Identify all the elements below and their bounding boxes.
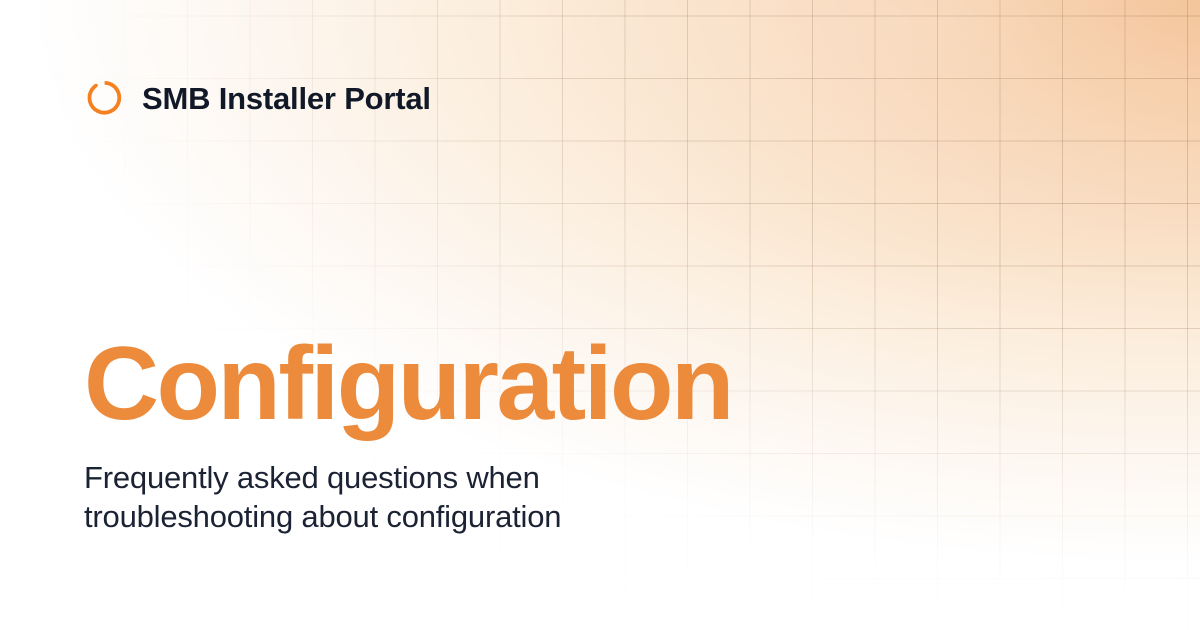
og-card: SMB Installer Portal Configuration Frequ… xyxy=(0,0,1200,630)
page-subtitle: Frequently asked questions when troubles… xyxy=(84,458,704,536)
brand-lockup: SMB Installer Portal xyxy=(84,78,431,118)
brand-name: SMB Installer Portal xyxy=(142,83,431,114)
page-title: Configuration xyxy=(84,332,864,436)
orange-ring-logo-icon xyxy=(84,78,124,118)
hero-text-block: Configuration Frequently asked questions… xyxy=(84,332,864,536)
